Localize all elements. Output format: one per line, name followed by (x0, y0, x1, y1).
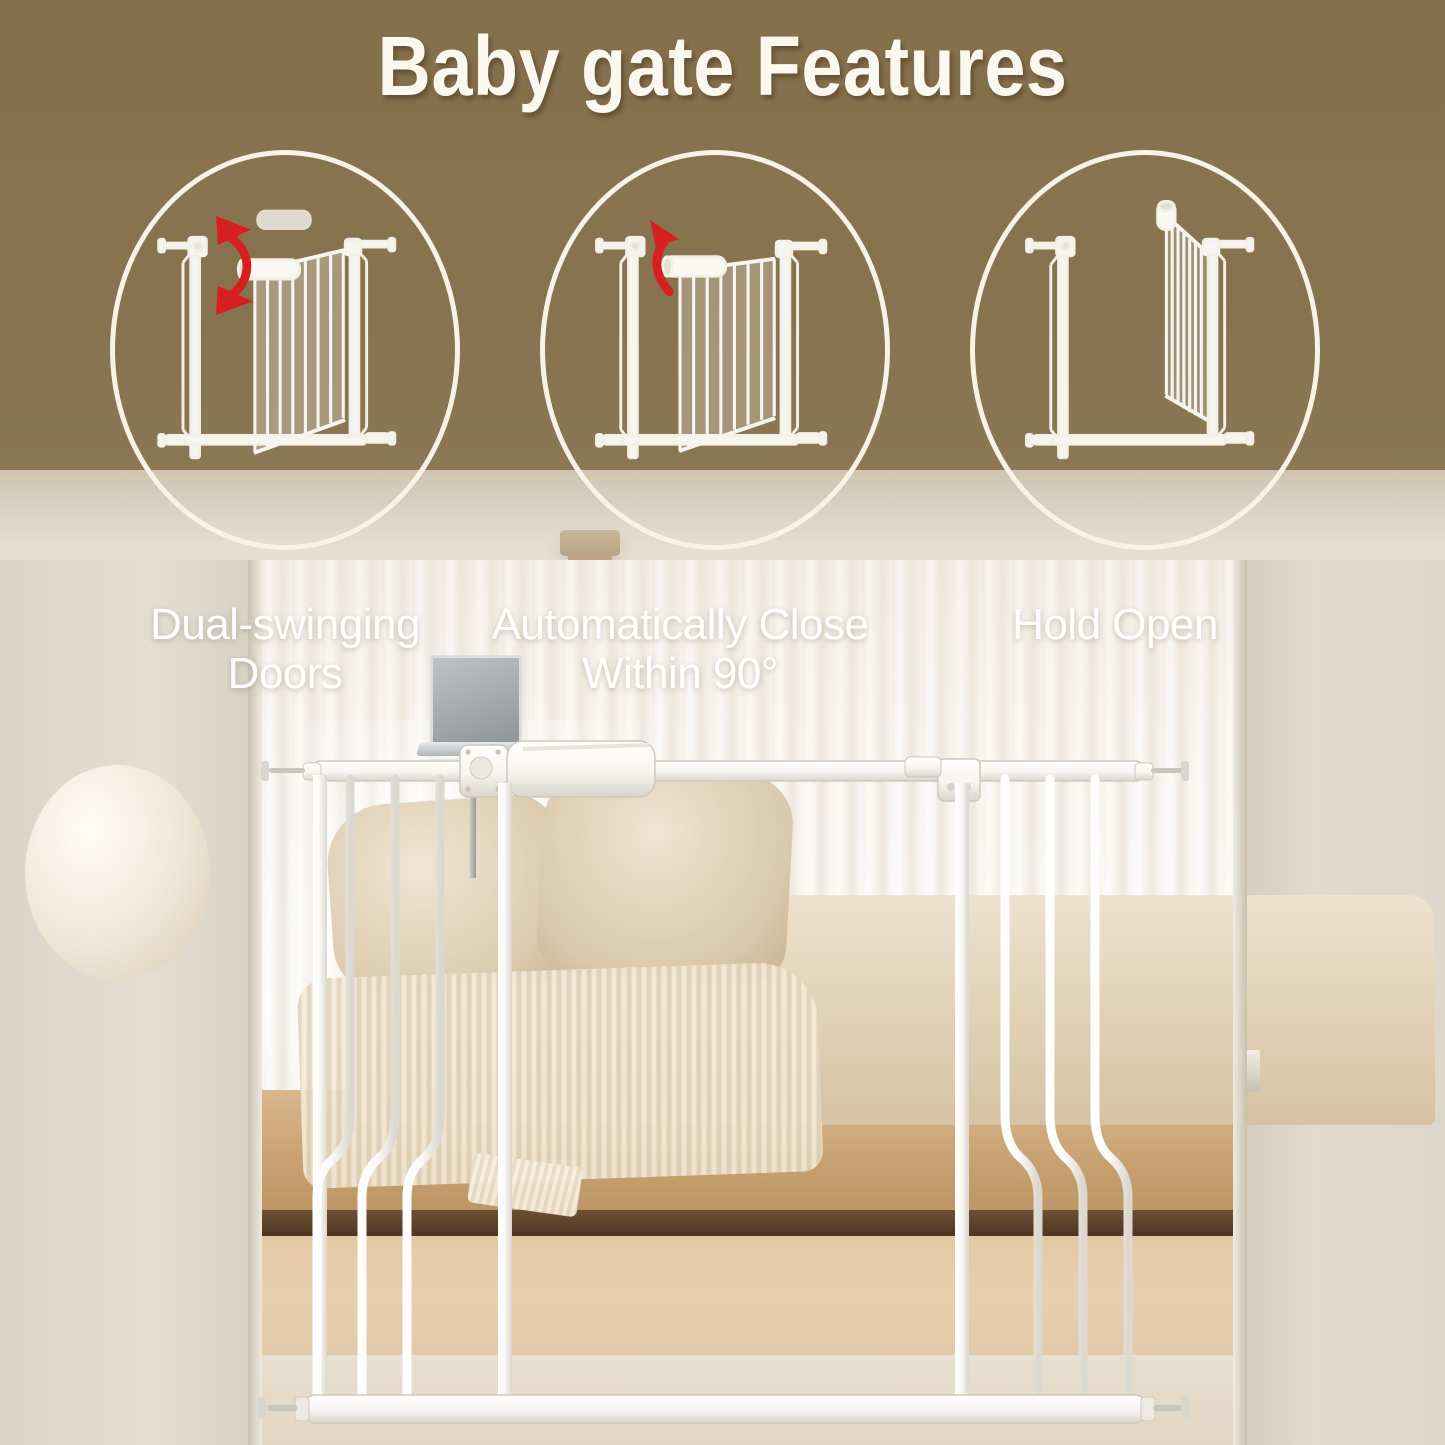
feature-circle-automatically-close (540, 150, 890, 550)
caption-automatically-close: Automatically Close Within 90° (490, 600, 870, 699)
caption-line-1: Hold Open (925, 600, 1305, 649)
gate-bars-door (533, 787, 911, 1403)
illustration-dual-swinging-doors (115, 155, 455, 545)
product-photo-baby-gate (245, 735, 1205, 1435)
pressure-mount-bolt-top-left (261, 761, 321, 781)
round-pouf (25, 765, 210, 980)
caption-dual-swinging-doors: Dual-swinging Doors (95, 600, 475, 699)
feature-circles (0, 150, 1445, 570)
pressure-mount-bolt-bottom-right (1141, 1397, 1190, 1421)
feature-circle-dual-swinging-doors (110, 150, 460, 550)
caption-line-1: Automatically Close (490, 600, 870, 649)
feature-captions: Dual-swinging Doors Automatically Close … (0, 600, 1445, 710)
infographic-page: Baby gate Features (0, 0, 1445, 1445)
page-title: Baby gate Features (87, 18, 1359, 115)
caption-line-2: Doors (95, 649, 475, 698)
feature-circle-hold-open (970, 150, 1320, 550)
gate-bars-left-extension (317, 779, 440, 1403)
illustration-automatically-close (545, 155, 885, 545)
baby-gate-graphic (245, 735, 1205, 1435)
illustration-hold-open (975, 155, 1315, 545)
latch-handle[interactable] (460, 741, 655, 797)
caption-hold-open: Hold Open (925, 600, 1305, 649)
gate-frame-post-right (955, 783, 969, 1405)
caption-line-1: Dual-swinging (95, 600, 475, 649)
gate-bars-right-extension (1005, 779, 1128, 1403)
pressure-mount-bolt-top-right (1135, 761, 1189, 781)
gate-center-post (498, 783, 512, 1405)
caption-line-2: Within 90° (490, 649, 870, 698)
arrow-head-up (650, 220, 679, 247)
gate-bottom-threshold-bar (305, 1395, 1145, 1423)
pressure-mount-bolt-bottom-left (257, 1397, 309, 1421)
